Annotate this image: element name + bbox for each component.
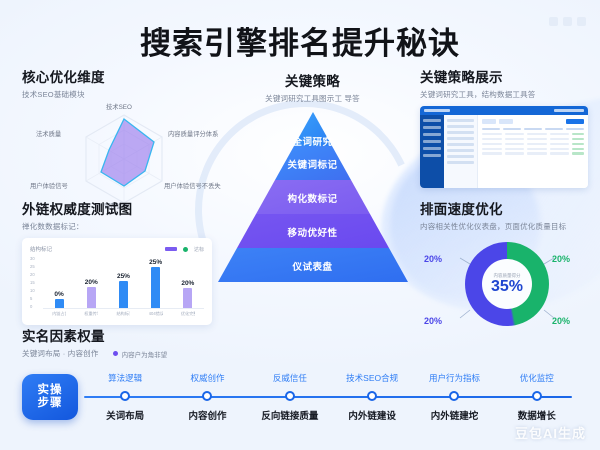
step-bottom-label: 关词布局 [84,408,166,422]
watermark: 豆包AI生成 [515,423,586,442]
bar-value: 25% [117,273,130,280]
y-tick: 5 [30,297,43,301]
timeline-step[interactable]: 用户行为指标 内外链建坨 [413,370,495,432]
bar-column[interactable]: 20% [181,280,195,308]
bar-value: 20% [85,279,98,286]
cell [505,148,525,150]
pyramid-layer: 构化数标记 [218,189,408,207]
dashboard-body [420,115,588,188]
strategy-heading: 关键策略 [215,70,410,90]
sidebar-item[interactable] [423,119,441,122]
sidebar-item[interactable] [423,133,441,136]
y-tick: 15 [30,281,43,285]
dashboard-titlebar [420,106,588,115]
x-tick: 404错误 [149,311,163,317]
radar-svg [22,104,227,209]
cell [505,138,525,140]
bar-rect [183,288,192,308]
bar-chart-legend: 达标 [165,246,204,253]
section-core-dimensions: 核心优化维度 技术SEO基础模块 技术SEO 内容质量评分体系 用户体验信号不丢… [22,66,227,209]
pyramid-layer: 移动优好性 [218,223,408,241]
section-speed-optimization: 排面速度优化 内容相关性优化仪表盘，页面优化质量目标 内容质量得分 35% 20… [420,198,590,346]
speed-subtitle: 内容相关性优化仪表盘，页面优化质量目标 [420,221,590,232]
y-tick: 20 [30,273,43,277]
bar-chart-y-axis: 30 25 20 15 10 5 0 [30,257,43,309]
pyramid-layer: 仪试表盘 [218,257,408,275]
step-top-label: 用户行为指标 [413,372,495,384]
bar-column[interactable]: 25% [116,273,130,308]
step-node-icon[interactable] [202,391,212,401]
weight-legend: 内容户为角非望 [113,349,168,359]
dashboard-sidebar[interactable] [420,115,444,188]
legend-label: 达标 [194,246,204,253]
bar-chart-plot: 30 25 20 15 10 5 0 0% 20% 25% [30,257,204,319]
timeline-step[interactable]: 反威信任 反向链接质量 [249,370,331,432]
y-tick: 25 [30,265,43,269]
step-top-label: 技术SEO合规 [331,372,413,384]
cell [527,152,547,154]
cell [527,133,547,135]
timeline-step[interactable]: 算法逻辑 关词布局 [84,370,166,432]
cell [482,143,502,145]
weight-heading: 实名因素权量 [22,325,262,345]
strategy-subtitle: 关键词研究工具图示工 导答 [215,93,410,104]
cell-status [572,143,584,145]
bar-value: 20% [181,280,194,287]
filter-chip[interactable] [499,119,513,124]
step-top-label: 算法逻辑 [84,372,166,384]
radar-axis-label: 技术SEO [106,102,132,111]
cell [527,138,547,140]
speed-heading: 排面速度优化 [420,198,590,218]
section-backlink-authority: 外链权威度测试图 禅化数数据标记： 结构标记 达标 30 25 20 15 10… [22,198,212,325]
bar-chart-bars: 0% 20% 25% 25% 20% [43,257,204,309]
step-top-label: 反威信任 [249,372,331,384]
cell [482,138,502,140]
donut-label: 20% [552,316,570,326]
sidebar-item[interactable] [423,154,441,157]
cell [527,148,547,150]
legend-dot-icon [113,351,118,356]
showcase-heading: 关键策略展示 [420,66,588,86]
tree-node[interactable] [447,137,474,140]
cell [550,133,570,135]
pyramid-chart: 全词研究 关键词标记 构化数标记 移动优好性 仪试表盘 [218,110,408,290]
donut-label: 20% [424,316,442,326]
bar-rect [55,299,64,308]
table-row[interactable] [482,152,584,154]
timeline-step[interactable]: 技术SEO合规 内外链建设 [331,370,413,432]
page-title: 搜索引擎排名提升秘诀 [0,18,600,63]
radar-axis-label: 内容质量评分体系 [168,129,218,138]
step-bottom-label: 反向链接质量 [249,408,331,422]
cell [482,133,502,135]
dashboard-tree-panel[interactable] [444,115,478,188]
cell [550,143,570,145]
header-cell [545,128,563,130]
x-tick: 结构标记 [116,311,130,317]
bar-column[interactable]: 20% [84,279,98,308]
cell [505,143,525,145]
step-node-icon[interactable] [449,391,459,401]
donut-center: 内容质量得分 35% [465,242,549,326]
table-row[interactable] [482,138,584,140]
practical-steps-timeline: 实操 步骤 算法逻辑 关词布局 权威创作 内容创作 反威信任 反向链接质量 技术… [22,370,578,432]
tree-node[interactable] [447,125,474,128]
cell-status [572,148,584,150]
step-top-label: 优化监控 [496,372,578,384]
dashboard-screenshot-mock[interactable] [420,106,588,188]
tree-node[interactable] [447,131,474,134]
weight-subtitle: 关键词布局 · 内容创作 [22,348,99,359]
badge-line-2: 步骤 [38,397,63,410]
step-node-icon[interactable] [120,391,130,401]
section-factor-weight: 实名因素权量 关键词布局 · 内容创作 内容户为角非望 [22,325,262,359]
table-row[interactable] [482,143,584,145]
cell-status [572,152,584,154]
bar-value: 0% [54,291,63,298]
cell [550,138,570,140]
showcase-subtitle: 关键词研究工具，结构数据工具答 [420,89,588,100]
titlebar-actions [554,109,584,112]
bar-column[interactable]: 0% [52,291,66,308]
tree-node[interactable] [447,119,474,122]
pyramid-layer: 关键词标记 [218,155,408,173]
core-heading: 核心优化维度 [22,66,227,86]
sidebar-item[interactable] [423,126,441,129]
step-node-icon[interactable] [532,391,542,401]
bar-chart-title: 结构标记 [30,245,52,253]
tree-node[interactable] [447,161,474,164]
x-tick: 内链占比 [52,311,66,317]
header-cell [503,128,521,130]
bar-chart-header: 结构标记 达标 [30,245,204,253]
y-tick: 0 [30,305,43,309]
radar-axis-label: 用户体验信号不丢失 [164,181,221,190]
tree-node[interactable] [447,143,474,146]
cell [550,152,570,154]
step-bottom-label: 内外链建设 [331,408,413,422]
filter-chip[interactable] [482,119,496,124]
bar-value: 25% [149,259,162,266]
pyramid-layer: 全词研究 [218,132,408,150]
dashboard-toolbar[interactable] [482,119,584,124]
section-strategy-showcase: 关键策略展示 关键词研究工具，结构数据工具答 [420,66,588,188]
step-bottom-label: 数据增长 [496,408,578,422]
timeline-step[interactable]: 权威创作 内容创作 [166,370,248,432]
header-cell [482,128,500,130]
legend-swatch-dot [183,247,188,252]
header-cell [524,128,542,130]
step-bottom-label: 内外链建坨 [413,408,495,422]
donut-chart: 内容质量得分 35% 20% 20% 20% 20% [420,236,590,346]
header-cell [566,128,584,130]
step-top-label: 权威创作 [166,372,248,384]
y-tick: 10 [30,289,43,293]
bar-rect [87,287,96,308]
legend-swatch-bar [165,247,177,251]
cell [505,133,525,135]
table-row[interactable] [482,133,584,135]
cell-status [572,138,584,140]
primary-action-button[interactable] [566,119,584,124]
table-header-row [482,128,584,130]
bar-chart-card: 结构标记 达标 30 25 20 15 10 5 0 0% [22,238,212,325]
y-tick: 30 [30,257,43,261]
bar-rect [151,267,160,308]
radar-axis-label: 用户体验信号 [30,181,68,190]
sidebar-item[interactable] [423,140,441,143]
bar-rect [119,281,128,308]
badge-line-1: 实操 [38,384,63,397]
timeline-steps: 算法逻辑 关词布局 权威创作 内容创作 反威信任 反向链接质量 技术SEO合规 … [84,370,578,432]
cell-status [572,133,584,135]
section-key-strategy: 关键策略 关键词研究工具图示工 导答 全词研究 关键词标 [215,70,410,290]
cell [505,152,525,154]
dashboard-table-panel [478,115,588,188]
cell [550,148,570,150]
cell [482,152,502,154]
weight-legend-label: 内容户为角非望 [122,349,168,359]
cell [527,143,547,145]
donut-label: 20% [552,254,570,264]
core-subtitle: 技术SEO基础模块 [22,89,227,100]
titlebar-logo [424,109,450,112]
steps-badge: 实操 步骤 [22,374,78,420]
cell [482,148,502,150]
backlink-subtitle: 禅化数数据标记： [22,221,212,232]
donut-value: 35% [491,279,523,296]
sidebar-item[interactable] [423,147,441,150]
x-tick: 权重传导 [84,311,98,317]
donut-label: 20% [424,254,442,264]
table-row[interactable] [482,148,584,150]
tree-node[interactable] [447,149,474,152]
step-node-icon[interactable] [285,391,295,401]
bar-column[interactable]: 25% [149,259,163,308]
x-tick: 优化完整 [181,311,195,317]
backlink-heading: 外链权威度测试图 [22,198,212,218]
tree-node[interactable] [447,155,474,158]
step-bottom-label: 内容创作 [166,408,248,422]
bar-chart-x-axis: 内链占比 权重传导 结构标记 404错误 优化完整 [43,311,204,317]
radar-chart: 技术SEO 内容质量评分体系 用户体验信号不丢失 留存达图 用户体验信号 法术质… [22,104,227,209]
step-node-icon[interactable] [367,391,377,401]
radar-axis-label: 法术质量 [36,129,61,138]
